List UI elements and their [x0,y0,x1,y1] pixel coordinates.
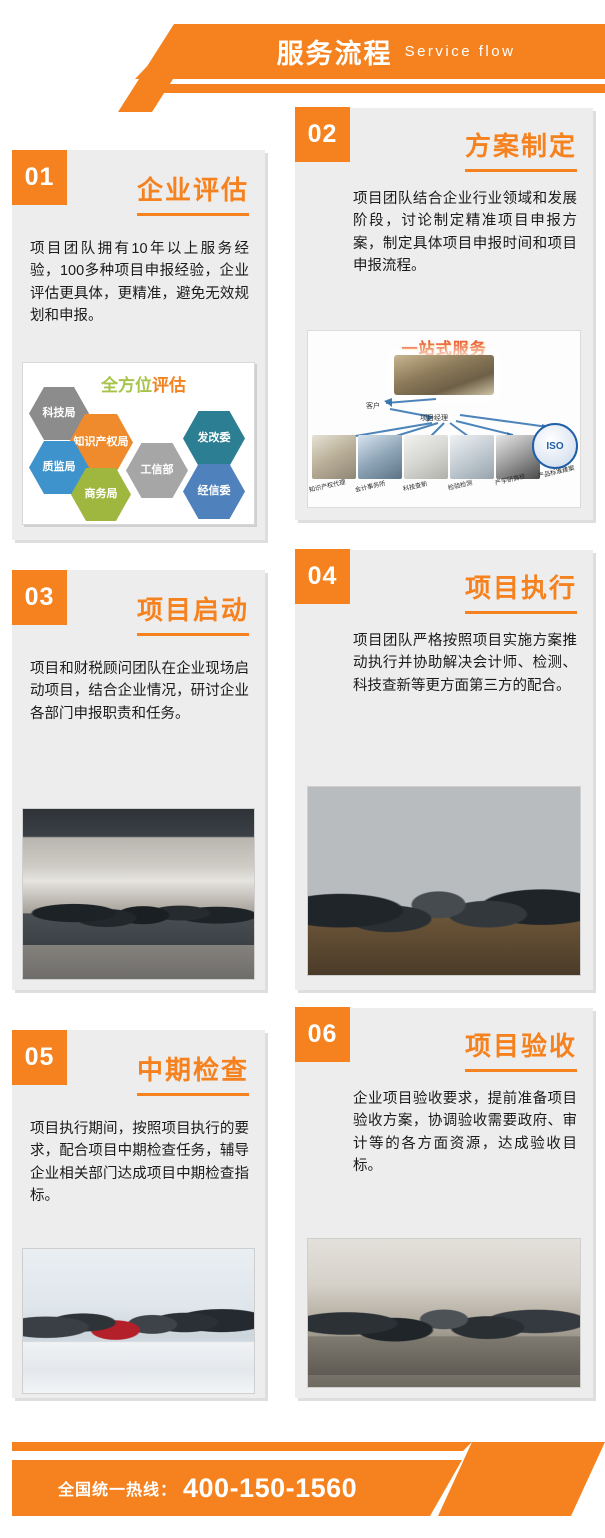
step-body-03: 项目和财税顾问团队在企业现场启动项目，结合企业情况，研讨企业各部门申报职责和任务… [30,658,249,725]
step-body-04: 项目团队严格按照项目实施方案推动执行并协助解决会计师、检测、科技查新等更方面第三… [353,630,577,697]
step-number-badge-03: 03 [12,570,67,625]
one-stop-tile-2 [358,435,402,479]
step-body-02: 项目团队结合企业行业领域和发展阶段，讨论制定精准项目申报方案，制定具体项目申报时… [353,188,577,278]
footer-accent-line [12,1442,472,1451]
photo-working-session [307,786,581,976]
photo-service-counter-content [23,1249,254,1393]
step-card-03: 03 项目启动 项目和财税顾问团队在企业现场启动项目，结合企业情况，研讨企业各部… [12,570,265,990]
step-title-04: 项目执行 [465,568,577,614]
hexagon-node-zhishi-line2: 产权局 [96,436,129,449]
footer-hotline-group: 全国统一热线： 400-150-1560 [58,1460,357,1516]
header-title-group: 服务流程 Service flow [135,24,605,79]
hexagon-node-gongxin: 工信部 [126,443,188,498]
step-number-badge-04: 04 [295,549,350,604]
step-card-01: 01 企业评估 项目团队拥有10年以上服务经验，100多种项目申报经验，企业评估… [12,150,265,540]
page-title: 服务流程 [277,32,393,71]
one-stop-tile-4 [450,435,494,479]
step-card-05: 05 中期检查 项目执行期间，按照项目执行的要求，配合项目中期检查任务，辅导企业… [12,1030,265,1398]
certification-seal-icon: ISO [532,423,578,469]
one-stop-service-diagram: 一站式服务 [307,330,581,508]
step-number-badge-06: 06 [295,1007,350,1062]
header-banner-underline [150,84,605,93]
hotline-number[interactable]: 400-150-1560 [183,1473,357,1504]
one-stop-tile-1 [312,435,356,479]
hexagon-node-jingxin: 经信委 [183,464,245,519]
page-header: 服务流程 Service flow [0,0,605,112]
hexagon-node-fagai: 发改委 [183,411,245,466]
hexagon-diagram-title: 全方位评估 [101,371,186,396]
service-flow-infographic: 服务流程 Service flow 01 企业评估 项目团队拥有10年以上服务经… [0,0,605,1538]
step-number-badge-02: 02 [295,107,350,162]
step-number-badge-05: 05 [12,1030,67,1085]
hexagon-title-part1: 全方位 [101,376,152,395]
hexagon-title-part2: 评估 [152,376,186,395]
step-title-01: 企业评估 [137,170,249,216]
step-number-badge-01: 01 [12,150,67,205]
page-subtitle: Service flow [405,43,516,60]
photo-conference-room-content [308,1239,580,1387]
step-title-05: 中期检查 [137,1050,249,1096]
one-stop-label-manager: 项目经理 [420,413,448,423]
step-body-01: 项目团队拥有10年以上服务经验，100多种项目申报经验，企业评估更具体，更精准，… [30,238,249,328]
step-card-06: 06 项目验收 企业项目验收要求，提前准备项目验收方案，协调验收需要政府、审计等… [295,1008,593,1398]
hotline-label: 全国统一热线： [58,1476,177,1500]
step-body-06: 企业项目验收要求，提前准备项目验收方案，协调验收需要政府、审计等的各方面资源，达… [353,1088,577,1178]
page-footer: 全国统一热线： 400-150-1560 [0,1408,605,1538]
step-title-03: 项目启动 [137,590,249,636]
step-body-05: 项目执行期间，按照项目执行的要求，配合项目中期检查任务，辅导企业相关部门达成项目… [30,1118,249,1208]
photo-meeting-room-content [23,809,254,979]
one-stop-label-customer: 客户 [366,401,380,411]
hexagon-assessment-diagram: 全方位评估 科技局 知识产权局 质监局 商务局 工信部 发改委 经信委 [22,362,255,525]
one-stop-tile-3 [404,435,448,479]
footer-wedge-decoration [438,1442,605,1516]
photo-service-counter [22,1248,255,1394]
step-title-06: 项目验收 [465,1026,577,1072]
step-title-02: 方案制定 [465,126,577,172]
step-card-04: 04 项目执行 项目团队严格按照项目实施方案推动执行并协助解决会计师、检测、科技… [295,550,593,990]
photo-working-session-content [308,787,580,975]
photo-conference-room [307,1238,581,1388]
step-card-02: 02 方案制定 项目团队结合企业行业领域和发展阶段，讨论制定精准项目申报方案，制… [295,108,593,520]
photo-meeting-room [22,808,255,980]
